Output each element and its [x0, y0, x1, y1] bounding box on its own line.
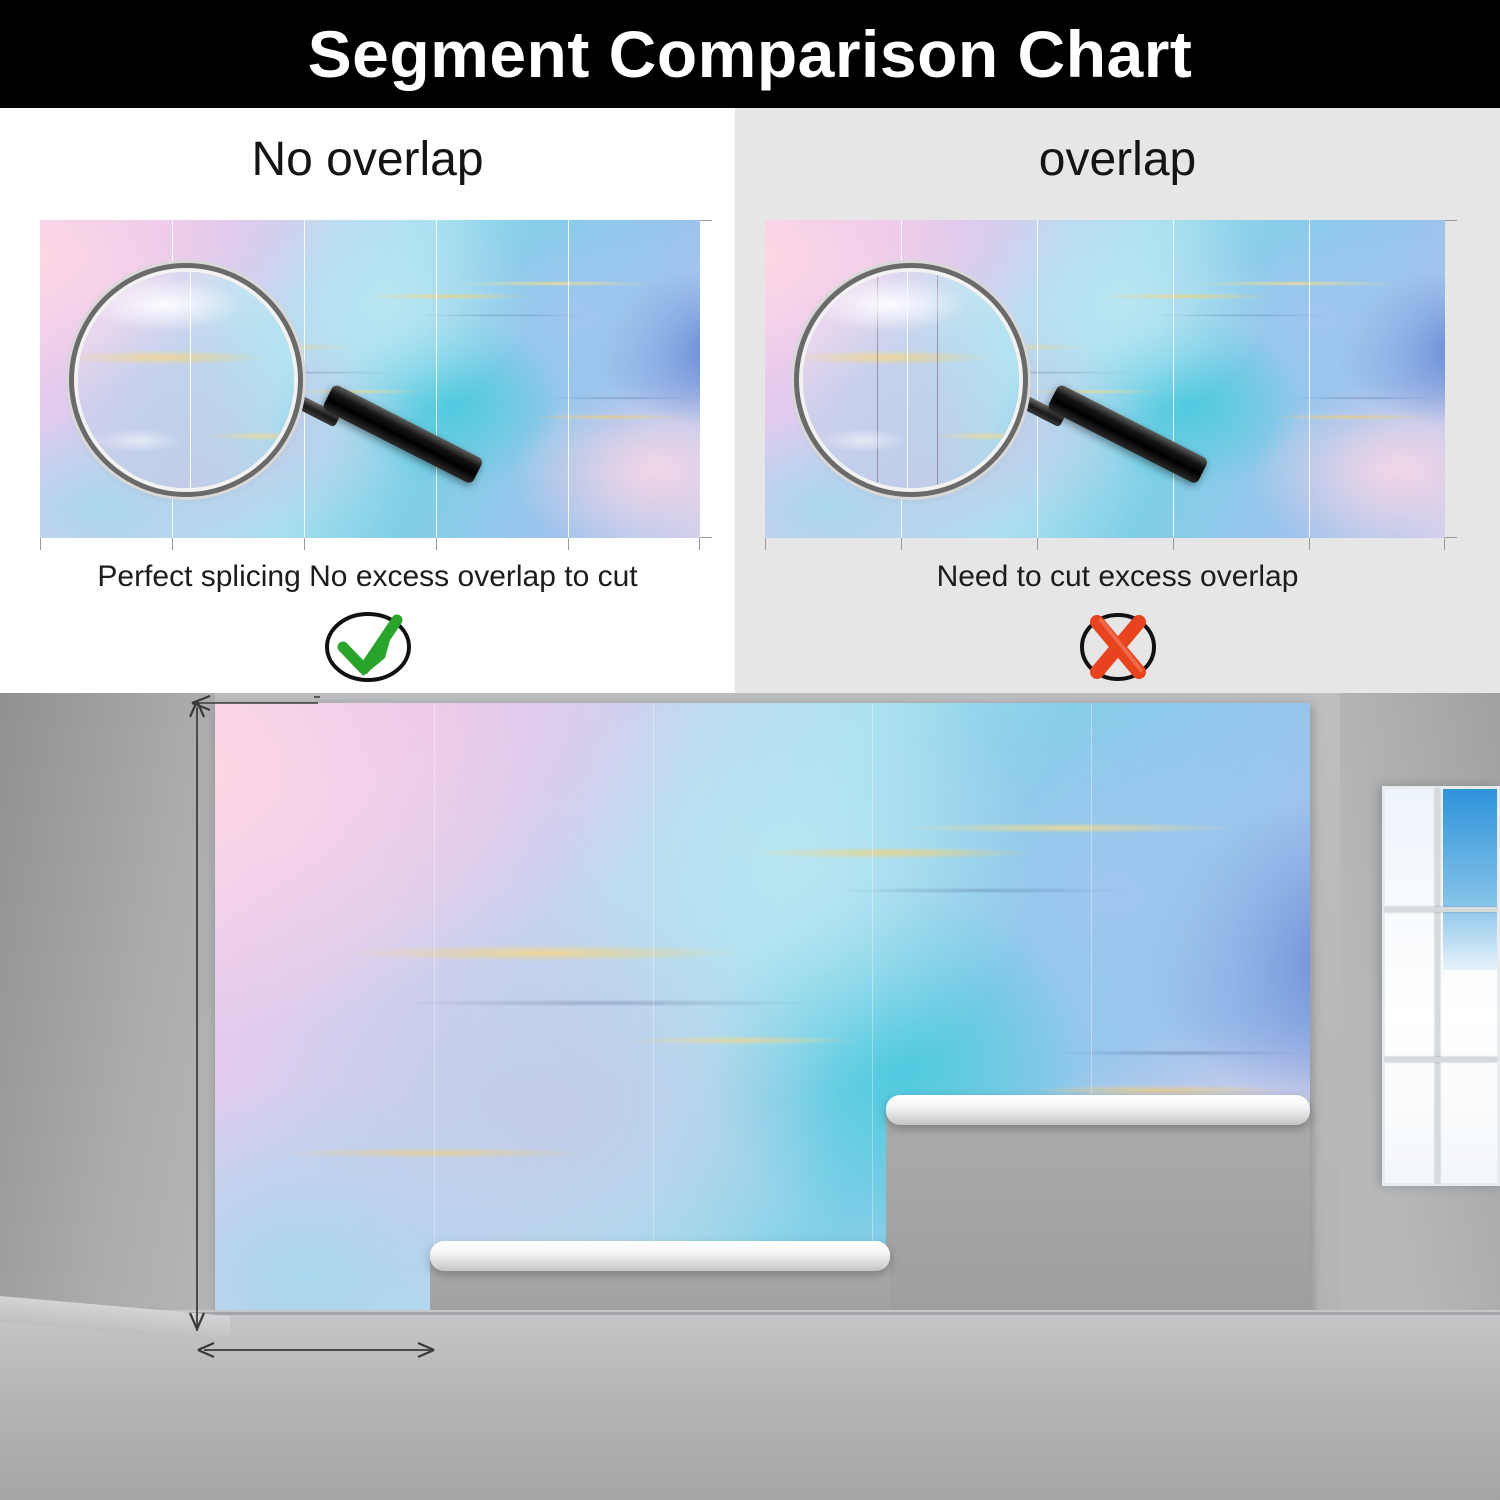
comparison-section: No overlap: [0, 108, 1500, 693]
sample-overlap: [765, 220, 1445, 538]
sample-no-overlap: [40, 220, 700, 538]
title-bar: Segment Comparison Chart: [0, 0, 1500, 108]
panel-heading-overlap: overlap: [735, 132, 1500, 187]
red-cross-icon: [735, 608, 1500, 686]
magnifying-glass-icon-overlap: [803, 272, 1223, 502]
caption-overlap: Need to cut excess overlap: [735, 560, 1500, 594]
bottom-ruler-ticks-overlap: [765, 538, 1445, 550]
panel-overlap: overlap: [735, 108, 1500, 693]
green-check-icon: [0, 608, 735, 686]
right-ruler-ticks: [700, 220, 712, 538]
product-infographic: Segment Comparison Chart No overlap: [0, 0, 1500, 1500]
panel-no-overlap: No overlap: [0, 108, 735, 693]
roll-lip-middle: [430, 1241, 890, 1271]
page-title: Segment Comparison Chart: [308, 21, 1193, 87]
floor-edge: [0, 1312, 1500, 1315]
caption-no-overlap: Perfect splicing No excess overlap to cu…: [0, 560, 735, 594]
window-icon: [1382, 786, 1500, 1186]
left-wall: [0, 693, 215, 1353]
magnifying-glass-icon: [78, 272, 498, 502]
panel-heading-no-overlap: No overlap: [0, 132, 735, 187]
bottom-ruler-ticks: [40, 538, 700, 550]
step-block-upper: [886, 1105, 1310, 1329]
right-ruler-ticks-overlap: [1445, 220, 1457, 538]
room-scene: LILOKKO: [0, 693, 1500, 1500]
roll-lip-upper: [886, 1095, 1310, 1125]
